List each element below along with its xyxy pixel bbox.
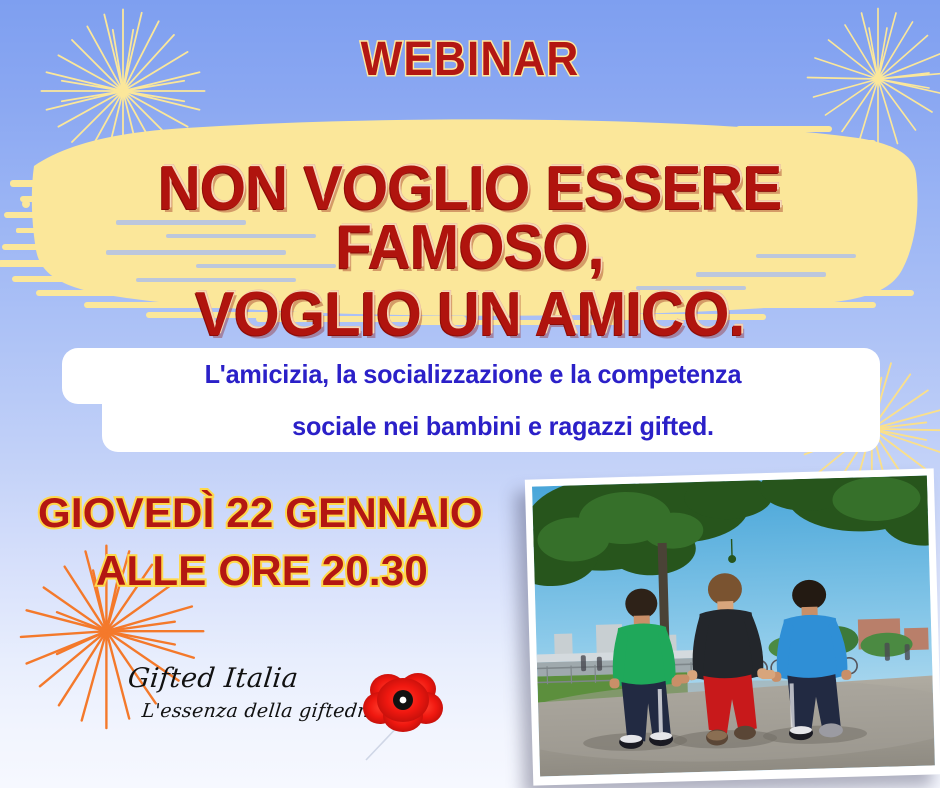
subtitle-text: L'amicizia, la socializzazione e la comp… xyxy=(74,348,867,452)
webinar-poster: WEBINAR xyxy=(0,0,940,788)
photo-three-boys xyxy=(525,468,940,785)
title-line-1: NON VOGLIO ESSERE FAMOSO, xyxy=(24,160,917,278)
title-line-2: VOGLIO UN AMICO. xyxy=(24,286,917,345)
schedule-date: GIOVEDÌ 22 GENNAIO xyxy=(38,484,538,542)
schedule-block: GIOVEDÌ 22 GENNAIO ALLE ORE 20.30 xyxy=(38,484,538,600)
kicker-webinar: WEBINAR xyxy=(38,32,903,87)
subtitle-line-2: sociale nei bambini e ragazzi gifted. xyxy=(74,400,867,452)
schedule-time: ALLE ORE 20.30 xyxy=(38,542,538,600)
subtitle-line-1: L'amicizia, la socializzazione e la comp… xyxy=(74,348,867,400)
poppy-flower-icon xyxy=(358,660,454,768)
page-title: NON VOGLIO ESSERE FAMOSO, VOGLIO UN AMIC… xyxy=(0,160,940,353)
photo-image xyxy=(532,476,935,777)
subtitle-block: L'amicizia, la socializzazione e la comp… xyxy=(62,348,880,452)
